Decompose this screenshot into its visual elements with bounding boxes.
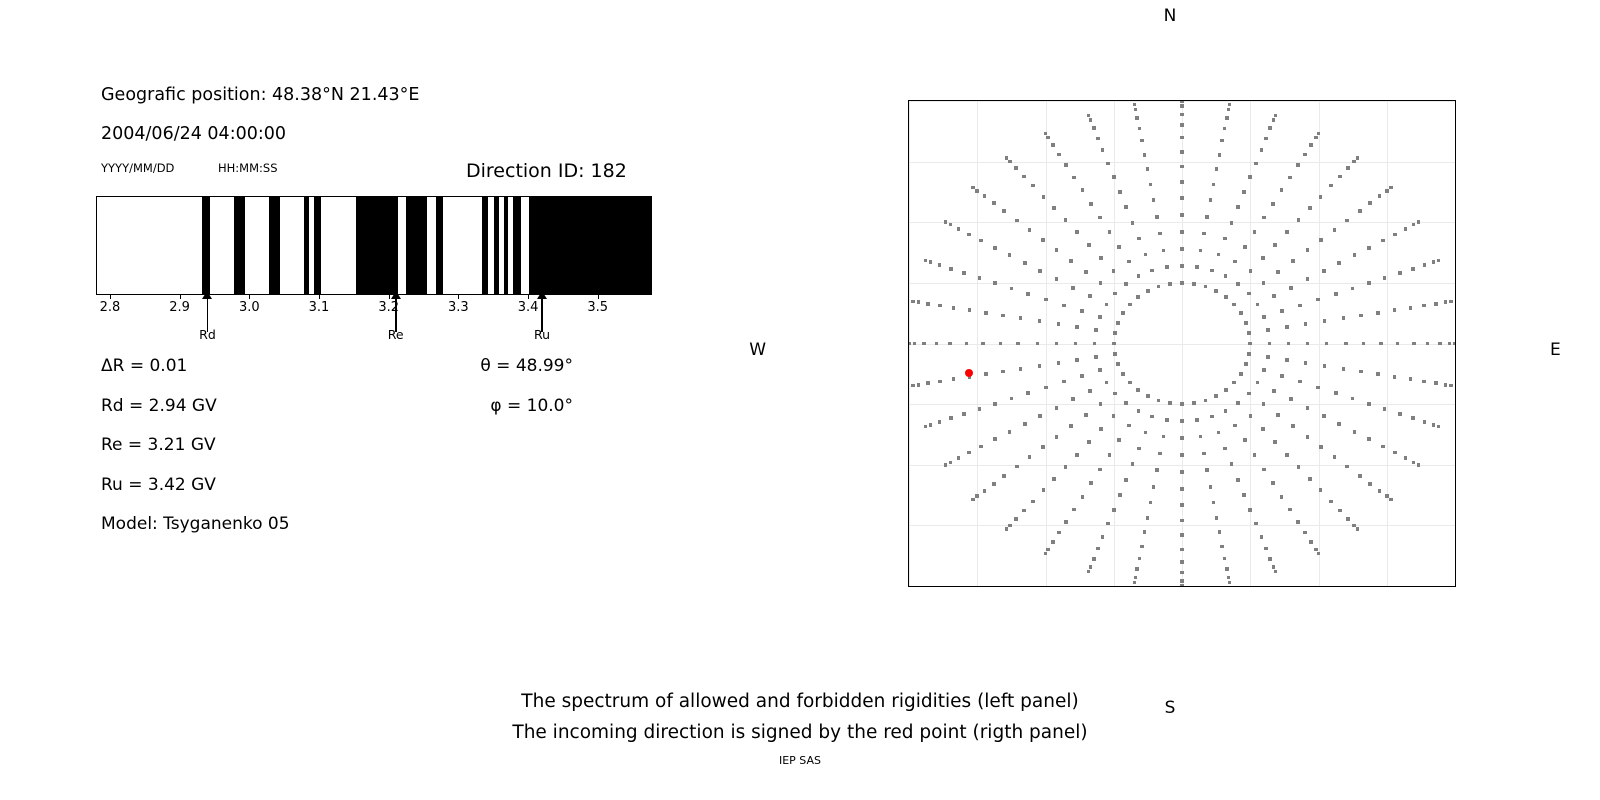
direction-dot <box>999 342 1003 346</box>
direction-dot <box>1028 228 1032 232</box>
direction-dot <box>1412 223 1416 227</box>
direction-dot <box>1042 195 1046 199</box>
direction-dot <box>911 384 915 388</box>
caption-line-2: The incoming direction is signed by the … <box>0 717 1600 748</box>
direction-dot <box>1074 342 1078 346</box>
direction-dot <box>1137 237 1141 241</box>
direction-dot <box>1014 517 1018 521</box>
direction-dot <box>1338 509 1342 513</box>
forbidden-band <box>269 197 279 294</box>
direction-dot <box>1098 468 1102 472</box>
direction-dot <box>1001 370 1005 374</box>
direction-dot <box>1031 500 1035 504</box>
compass-label-west: W <box>749 340 766 360</box>
direction-dot <box>1351 287 1355 291</box>
gridline-vertical <box>1455 101 1456 586</box>
scatter-x-tick <box>1455 586 1456 587</box>
direction-dot <box>1344 342 1348 346</box>
direction-dot <box>1276 413 1280 417</box>
direction-dot <box>1291 424 1295 428</box>
direction-dot <box>1434 302 1438 306</box>
scatter-x-tick <box>977 586 978 587</box>
direction-dot <box>1046 136 1050 140</box>
direction-dot <box>1118 190 1122 194</box>
direction-dot <box>993 402 997 406</box>
direction-dot <box>1280 495 1284 499</box>
direction-dot <box>1005 527 1009 531</box>
direction-dot <box>1199 435 1203 439</box>
direction-dot <box>1105 381 1109 385</box>
gridline-horizontal <box>909 465 1455 466</box>
direction-dot <box>1316 298 1320 302</box>
direction-dot <box>1444 300 1448 304</box>
direction-dot <box>1093 342 1097 346</box>
direction-dot <box>917 383 921 387</box>
direction-dot <box>1121 372 1125 376</box>
direction-dot <box>1144 431 1148 435</box>
direction-dot <box>1303 531 1307 535</box>
direction-dot <box>1297 465 1301 469</box>
direction-dot <box>1385 189 1389 193</box>
direction-dot <box>1192 282 1196 286</box>
direction-dot <box>1180 123 1184 127</box>
direction-dot <box>1150 269 1154 273</box>
gridline-horizontal <box>909 162 1455 163</box>
gridline-horizontal <box>909 344 1455 345</box>
rigidity-spectrum-chart <box>96 196 652 295</box>
direction-dot <box>992 201 996 205</box>
direction-dot <box>924 425 928 429</box>
direction-dot <box>1285 230 1289 234</box>
direction-dot <box>1052 206 1056 210</box>
direction-dot <box>1223 237 1227 241</box>
direction-dot <box>1249 269 1253 273</box>
direction-dot <box>1359 314 1363 318</box>
direction-dot <box>1306 248 1310 252</box>
direction-dot <box>1192 401 1196 405</box>
direction-dot <box>1449 384 1453 388</box>
direction-dot <box>1309 143 1313 147</box>
direction-dot <box>1253 230 1257 234</box>
direction-dot <box>1329 184 1333 188</box>
direction-dot <box>1243 438 1247 442</box>
direction-dot <box>1417 220 1421 224</box>
direction-dot <box>1215 167 1219 171</box>
direction-dot <box>1298 304 1302 308</box>
direction-dot <box>1232 303 1236 307</box>
direction-dot <box>971 498 975 502</box>
direction-dot <box>1323 319 1327 323</box>
direction-dot <box>1411 416 1415 420</box>
forbidden-band <box>504 197 508 294</box>
scatter-y-tick <box>908 525 909 526</box>
direction-dot <box>1220 139 1224 143</box>
direction-dot <box>1224 409 1228 413</box>
direction-dot <box>1133 103 1137 107</box>
direction-dot <box>1180 571 1184 575</box>
direction-dot <box>992 482 996 486</box>
direction-dot <box>1124 401 1128 405</box>
direction-dot <box>1317 552 1321 556</box>
direction-dot <box>1127 260 1131 264</box>
direction-dot <box>1223 447 1227 451</box>
direction-dot <box>1199 249 1203 253</box>
direction-dot <box>1146 516 1150 520</box>
direction-dot <box>1249 414 1253 418</box>
direction-dot <box>949 416 953 420</box>
direction-dot <box>993 281 997 285</box>
param-model: Model: Tsyganenko 05 <box>101 514 290 534</box>
direction-dot <box>1227 108 1231 112</box>
direction-dot <box>1075 453 1079 457</box>
direction-dot <box>1180 402 1184 406</box>
direction-dot <box>1044 552 1048 556</box>
forbidden-band <box>234 197 245 294</box>
direction-dot <box>1432 423 1436 427</box>
direction-dot <box>1015 465 1019 469</box>
direction-dot <box>1268 126 1272 130</box>
direction-dot <box>1422 380 1426 384</box>
direction-dot <box>1393 375 1397 379</box>
direction-dot <box>1230 221 1234 225</box>
direction-dot <box>1256 303 1260 307</box>
direction-dot <box>1146 394 1150 398</box>
gridline-horizontal <box>909 222 1455 223</box>
direction-dot <box>1359 370 1363 374</box>
direction-dot <box>944 220 948 224</box>
direction-dot <box>1180 487 1184 491</box>
direction-dot <box>1337 422 1341 426</box>
direction-dot <box>1337 261 1341 265</box>
direction-dot <box>1144 253 1148 257</box>
direction-dot <box>1124 478 1128 482</box>
direction-dot <box>1417 463 1421 467</box>
direction-dot <box>1099 402 1103 406</box>
direction-dot <box>1268 557 1272 561</box>
gridline-horizontal <box>909 525 1455 526</box>
direction-dot <box>1367 246 1371 250</box>
direction-dot <box>1041 238 1045 242</box>
direction-dot <box>967 233 971 237</box>
spectrum-x-tick-label: 3.5 <box>587 300 608 315</box>
direction-dot <box>1342 367 1346 371</box>
direction-dot <box>1127 424 1131 428</box>
direction-dot <box>1437 425 1441 429</box>
time-format-hint: HH:MM:SS <box>218 161 278 175</box>
direction-dot <box>952 377 956 381</box>
direction-dot <box>993 246 997 250</box>
direction-dot <box>1180 165 1184 169</box>
direction-dot <box>1352 160 1356 164</box>
direction-dot <box>1137 409 1141 413</box>
direction-dot <box>1381 445 1385 449</box>
direction-dot <box>949 223 953 227</box>
direction-dot <box>1272 294 1276 298</box>
direction-dot <box>1044 298 1048 302</box>
direction-dot <box>1322 414 1326 418</box>
direction-dot <box>975 189 979 193</box>
gridline-horizontal <box>909 586 1455 587</box>
direction-dot <box>1268 342 1272 346</box>
direction-dot <box>1019 316 1023 320</box>
direction-dot <box>1260 148 1264 152</box>
direction-dot <box>1046 548 1050 552</box>
direction-dot <box>1247 352 1251 356</box>
direction-dot <box>1108 230 1112 234</box>
direction-dot <box>1158 452 1162 456</box>
direction-scatter-plot-area: −1.00−0.75−0.50−0.250.000.250.500.751.00… <box>908 100 1456 587</box>
direction-dot <box>1165 265 1169 269</box>
direction-dot <box>1381 239 1385 243</box>
direction-dot <box>1261 256 1265 260</box>
scatter-y-tick <box>908 101 909 102</box>
direction-dot <box>1214 289 1218 293</box>
direction-dot <box>1057 153 1061 157</box>
direction-dot <box>1098 315 1102 319</box>
direction-dot <box>1261 427 1265 431</box>
direction-dot <box>1244 321 1248 325</box>
direction-dot <box>979 445 983 449</box>
direction-dot <box>1016 342 1020 346</box>
direction-dot <box>962 271 966 275</box>
direction-dot <box>1411 267 1415 271</box>
direction-dot <box>1236 282 1240 286</box>
direction-dot <box>1134 108 1138 112</box>
direction-dot <box>1195 265 1199 269</box>
direction-dot <box>1248 175 1252 179</box>
incoming-direction-marker <box>965 369 973 377</box>
direction-dot <box>1356 156 1360 160</box>
footer-credit: IEP SAS <box>0 754 1600 767</box>
marker-label-ru: Ru <box>534 327 550 342</box>
direction-dot <box>1319 488 1323 492</box>
direction-dot <box>1098 216 1102 220</box>
direction-dot <box>1274 114 1278 118</box>
marker-label-re: Re <box>388 327 404 342</box>
geographic-position-label: Geografic position: 48.38°N 21.43°E <box>101 85 419 105</box>
direction-dot <box>1248 342 1252 346</box>
direction-dot <box>1393 233 1397 237</box>
direction-dot <box>1210 269 1214 273</box>
direction-dot <box>1072 508 1076 512</box>
direction-dot <box>1247 392 1251 396</box>
direction-dot <box>1215 516 1219 520</box>
direction-dot <box>1005 156 1009 160</box>
direction-dot <box>1162 249 1166 253</box>
direction-dot <box>922 342 926 346</box>
direction-dot <box>965 342 969 346</box>
direction-dot <box>1022 509 1026 513</box>
direction-dot <box>1113 352 1117 356</box>
direction-dot <box>1071 286 1075 290</box>
direction-dot <box>1064 520 1068 524</box>
direction-dot <box>1001 314 1005 318</box>
direction-dot <box>1096 137 1100 141</box>
direction-dot <box>1064 163 1068 167</box>
direction-dot <box>1152 198 1156 202</box>
direction-dot <box>1055 277 1059 281</box>
scatter-x-tick <box>1387 586 1388 587</box>
direction-dot <box>935 342 939 346</box>
marker-arrow-re: Re <box>389 291 403 343</box>
direction-dot <box>929 423 933 427</box>
direction-dot <box>938 263 942 267</box>
direction-dot <box>1212 183 1216 187</box>
direction-dot <box>1367 402 1371 406</box>
direction-dot <box>1180 453 1184 457</box>
direction-dot <box>1345 465 1349 469</box>
direction-dot <box>1118 493 1122 497</box>
spectrum-x-tick <box>319 295 320 299</box>
direction-dot <box>1308 477 1312 481</box>
direction-id-label: Direction ID: 182 <box>466 160 627 182</box>
direction-dot <box>1099 281 1103 285</box>
direction-dot <box>1081 495 1085 499</box>
direction-dot <box>1323 364 1327 368</box>
scatter-y-tick <box>908 222 909 223</box>
direction-dot <box>1287 342 1291 346</box>
direction-dot <box>1262 315 1266 319</box>
marker-label-rd: Rd <box>199 327 216 342</box>
direction-dot <box>1064 465 1068 469</box>
spectrum-x-tick <box>249 295 250 299</box>
direction-dot <box>1276 270 1280 274</box>
direction-dot <box>1389 498 1393 502</box>
scatter-x-tick <box>1182 586 1183 587</box>
direction-dot <box>1180 180 1184 184</box>
direction-dot <box>1329 500 1333 504</box>
direction-dot <box>1385 494 1389 498</box>
direction-dot <box>1396 342 1400 346</box>
direction-dot <box>1333 228 1337 232</box>
forbidden-band <box>436 197 443 294</box>
direction-dot <box>1412 342 1416 346</box>
direction-dot <box>1280 309 1284 313</box>
direction-dot <box>1180 150 1184 154</box>
direction-dot <box>1124 282 1128 286</box>
direction-dot <box>1088 294 1092 298</box>
direction-dot <box>1075 325 1079 329</box>
direction-dot <box>1096 547 1100 551</box>
direction-dot <box>1306 342 1310 346</box>
direction-dot <box>1094 355 1098 359</box>
direction-dot <box>1162 435 1166 439</box>
direction-dot <box>1084 270 1088 274</box>
direction-dot <box>1143 530 1147 534</box>
direction-dot <box>1289 397 1293 401</box>
direction-dot <box>1210 415 1214 419</box>
direction-dot <box>1106 522 1110 526</box>
direction-dot <box>1378 489 1382 493</box>
direction-dot <box>1057 531 1061 535</box>
direction-dot <box>1262 281 1266 285</box>
spectrum-x-tick-label: 3.0 <box>239 300 260 315</box>
direction-dot <box>1262 468 1266 472</box>
direction-dot <box>1432 260 1436 264</box>
direction-dot <box>1351 397 1355 401</box>
spectrum-x-tick <box>110 295 111 299</box>
spectrum-x-axis: 2.82.93.03.13.23.33.43.5RdReRu <box>96 295 652 355</box>
direction-dot <box>1306 435 1310 439</box>
direction-dot <box>1334 292 1338 296</box>
direction-dot <box>1236 401 1240 405</box>
direction-dot <box>1084 413 1088 417</box>
direction-dot <box>1092 126 1096 130</box>
direction-dot <box>1180 503 1184 507</box>
direction-dot <box>1298 380 1302 384</box>
direction-dot <box>938 380 942 384</box>
direction-dot <box>1262 216 1266 220</box>
direction-dot <box>1055 248 1059 252</box>
direction-dot <box>1304 361 1308 365</box>
direction-dot <box>1089 118 1093 122</box>
direction-dot <box>1112 342 1116 346</box>
scatter-x-tick <box>909 586 910 587</box>
direction-dot <box>1158 232 1162 236</box>
direction-dot <box>1157 285 1161 289</box>
direction-dot <box>1393 451 1397 455</box>
scatter-x-tick <box>1250 586 1251 587</box>
direction-dot <box>1319 195 1323 199</box>
direction-dot <box>1367 281 1371 285</box>
direction-dot <box>1214 394 1218 398</box>
direction-dot <box>1131 221 1135 225</box>
direction-dot <box>938 304 942 308</box>
direction-dot <box>926 302 930 306</box>
direction-dot <box>1409 306 1413 310</box>
direction-dot <box>1217 431 1221 435</box>
direction-dot <box>1338 175 1342 179</box>
direction-dot <box>1075 230 1079 234</box>
direction-dot <box>926 381 930 385</box>
param-rd: Rd = 2.94 GV <box>101 396 217 416</box>
direction-dot <box>917 300 921 304</box>
forbidden-band <box>304 197 309 294</box>
direction-dot <box>1254 522 1258 526</box>
direction-dot <box>1010 397 1014 401</box>
direction-dot <box>1038 269 1042 273</box>
spectrum-x-tick-label: 2.9 <box>169 300 190 315</box>
direction-dot <box>1426 342 1430 346</box>
direction-dot <box>1071 397 1075 401</box>
direction-dot <box>1180 136 1184 140</box>
direction-dot <box>1143 153 1147 157</box>
direction-dot <box>913 342 917 346</box>
direction-dot <box>1228 103 1232 107</box>
direction-dot <box>1264 547 1268 551</box>
direction-dot <box>1008 430 1012 434</box>
direction-dot <box>1409 377 1413 381</box>
direction-dot <box>1022 175 1026 179</box>
direction-dot <box>957 227 961 231</box>
direction-dot <box>1081 188 1085 192</box>
direction-dot <box>1444 383 1448 387</box>
direction-dot <box>1285 453 1289 457</box>
direction-dot <box>1273 440 1277 444</box>
direction-dot <box>1112 269 1116 273</box>
direction-dot <box>1389 186 1393 190</box>
direction-dot <box>1260 535 1264 539</box>
direction-dot <box>1044 132 1048 136</box>
direction-dot <box>1212 501 1216 505</box>
direction-dot <box>1180 247 1184 251</box>
direction-dot <box>1306 277 1310 281</box>
direction-dot <box>1306 406 1310 410</box>
direction-dot <box>1236 478 1240 482</box>
direction-dot <box>1087 570 1091 574</box>
direction-dot <box>1228 581 1232 585</box>
direction-dot <box>1099 256 1103 260</box>
